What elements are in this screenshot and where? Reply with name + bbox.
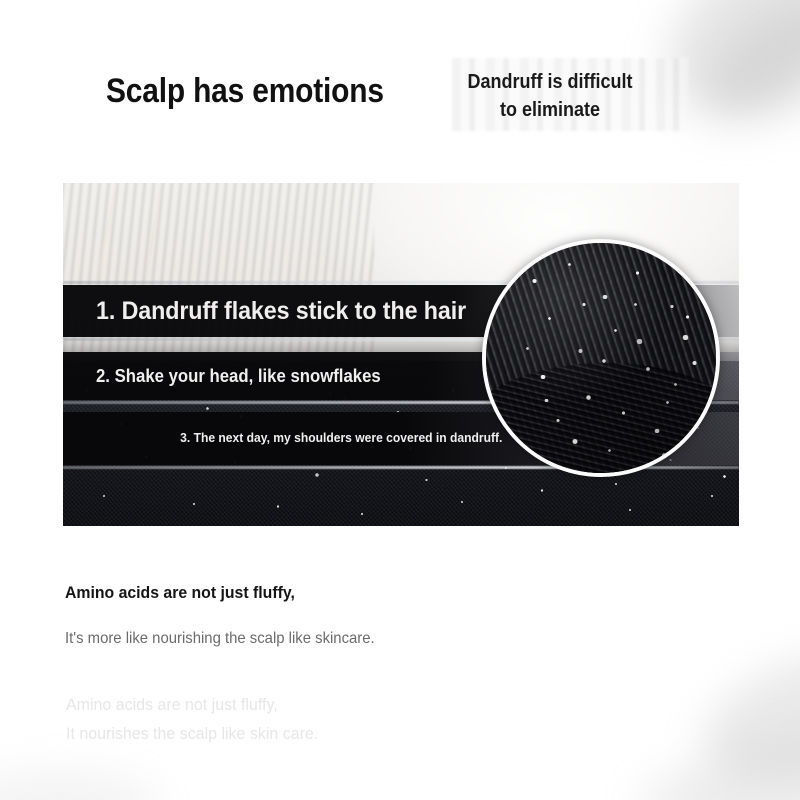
- background-smudge-top-right: [637, 0, 800, 157]
- caption-band-2-text: 2. Shake your head, like snowflakes: [96, 366, 381, 387]
- copy-ghost-block: Amino acids are not just fluffy, It nour…: [66, 690, 318, 748]
- copy-ghost-line-2: It nourishes the scalp like skin care.: [66, 719, 318, 748]
- copy-subline: It's more like nourishing the scalp like…: [65, 630, 375, 648]
- promo-page: Scalp has emotions Dandruff is difficult…: [0, 0, 800, 800]
- background-smudge-bottom-right-secondary: [634, 715, 800, 800]
- copy-headline: Amino acids are not just fluffy,: [65, 583, 295, 603]
- caption-band-1-text: 1. Dandruff flakes stick to the hair: [96, 297, 466, 326]
- background-smudge-bottom-right: [688, 629, 800, 800]
- background-smudge-top-right-secondary: [694, 0, 800, 129]
- caption-band-3-text: 3. The next day, my shoulders were cover…: [180, 428, 502, 448]
- secondary-heading: Dandruff is difficult to eliminate: [462, 68, 638, 125]
- hero-photo: 1. Dandruff flakes stick to the hair 2. …: [63, 183, 739, 526]
- background-smudge-bottom-left: [0, 770, 160, 800]
- magnifier-inset: [482, 239, 720, 477]
- magnifier-gloss-overlay: [486, 243, 716, 473]
- copy-ghost-line-1: Amino acids are not just fluffy,: [66, 690, 318, 719]
- page-title: Scalp has emotions: [106, 72, 384, 111]
